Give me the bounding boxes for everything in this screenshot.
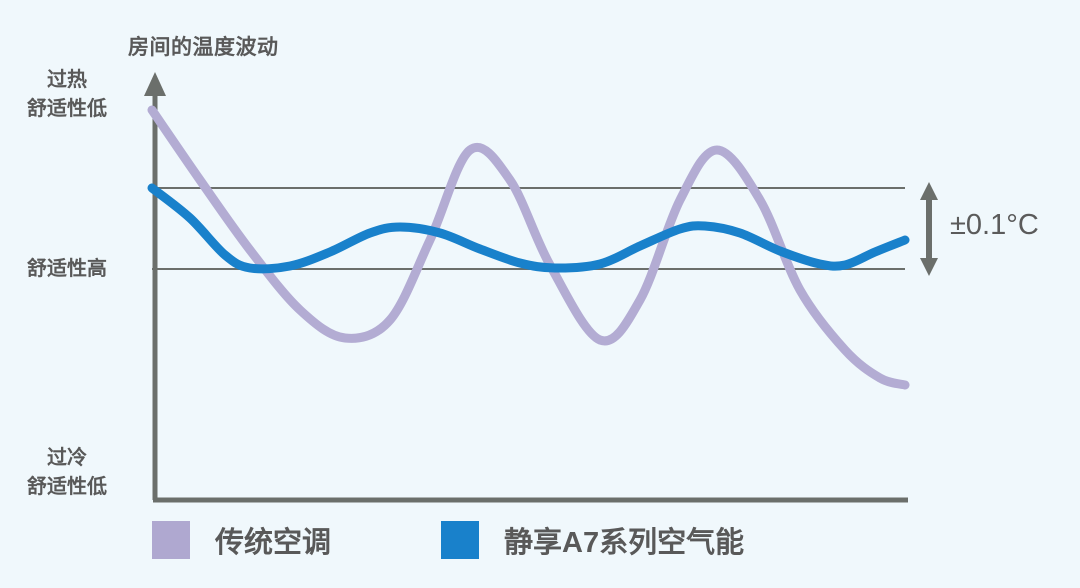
tolerance-arrow-icon — [920, 182, 938, 276]
legend-swatch-a7-heatpump — [441, 521, 479, 559]
y-axis — [144, 72, 166, 500]
legend-label-a7-heatpump: 静享A7系列空气能 — [504, 519, 744, 561]
y-axis-arrow-icon — [144, 72, 166, 96]
chart-canvas: 房间的温度波动 过热 舒适性低 舒适性高 过冷 舒适性低 ±0.1°C 传统空调 — [0, 0, 1080, 588]
legend-swatch-traditional-ac — [152, 521, 190, 559]
legend-label-traditional-ac: 传统空调 — [215, 519, 331, 561]
plot-area — [0, 0, 1080, 588]
series-line-traditional-ac — [152, 110, 905, 385]
